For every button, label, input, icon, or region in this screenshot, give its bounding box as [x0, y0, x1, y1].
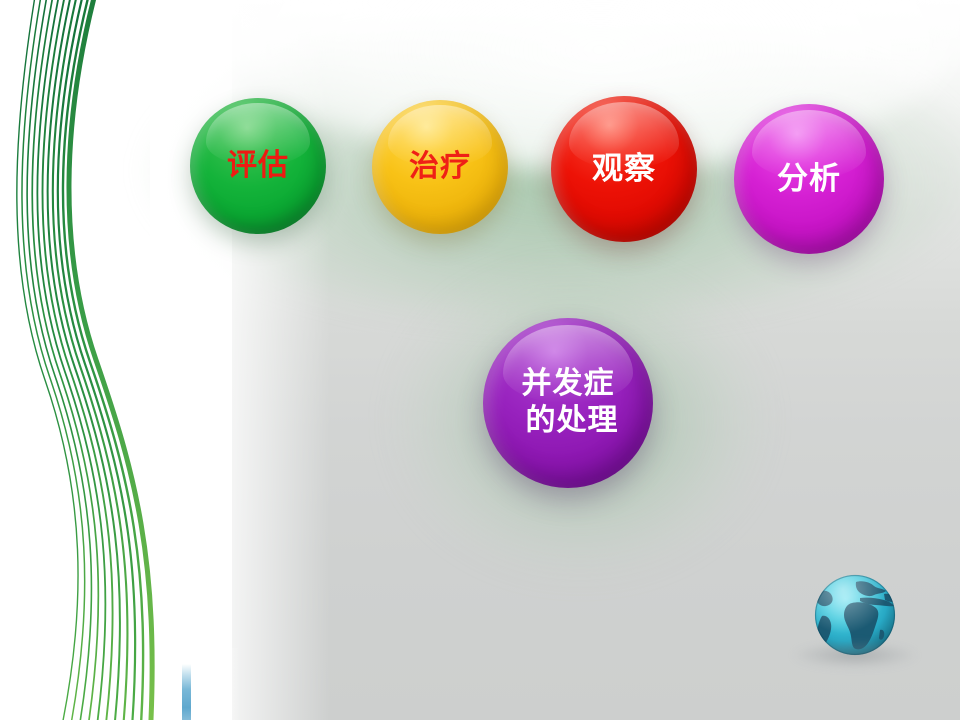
sphere-treatment-label: 治疗 — [409, 151, 471, 183]
globe-graphic — [812, 572, 898, 658]
sphere-treatment[interactable]: 治疗 — [372, 100, 508, 234]
sphere-complication-line2: 的处理 — [518, 403, 619, 440]
sphere-analysis-label: 分析 — [777, 162, 841, 195]
sphere-assessment-label: 评估 — [227, 150, 289, 182]
sphere-complication-management[interactable]: 并发症 的处理 — [483, 318, 653, 488]
sphere-observation-label: 观察 — [592, 152, 656, 185]
slide-canvas: 评估 治疗 观察 分析 并发症 的处理 — [0, 0, 960, 720]
sphere-complication-management-label: 并发症 的处理 — [518, 366, 619, 439]
sphere-complication-line1: 并发症 — [522, 367, 615, 400]
blue-accent-stripe — [182, 664, 191, 720]
sphere-analysis[interactable]: 分析 — [734, 104, 884, 254]
bottom-white-fade — [190, 648, 240, 720]
globe-shadow — [794, 642, 916, 668]
sphere-assessment[interactable]: 评估 — [190, 98, 326, 234]
sphere-observation[interactable]: 观察 — [551, 96, 697, 242]
